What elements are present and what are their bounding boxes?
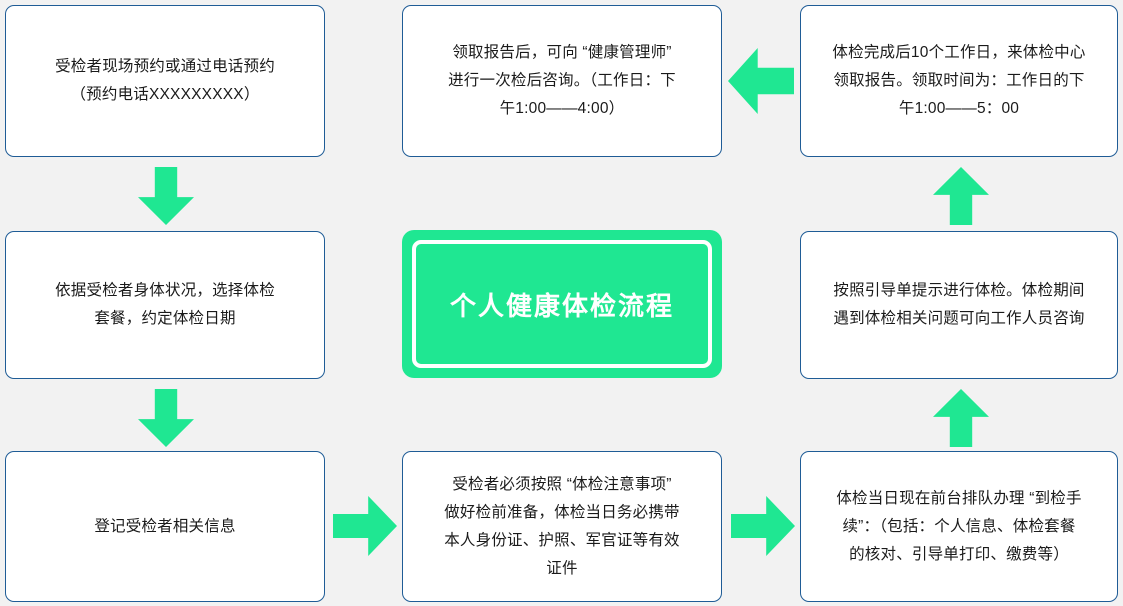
flowchart-title-inner-frame: 个人健康体检流程 bbox=[412, 240, 712, 368]
arrow-up-icon-right-col-2 bbox=[933, 389, 989, 447]
arrow-right-icon-bottom-1 bbox=[333, 496, 397, 556]
flow-box-bottom-right-text: 体检当日现在前台排队办理 “到检手 续”：（包括：个人信息、体检套餐 的核对、引… bbox=[836, 485, 1081, 569]
arrow-down-icon-left-col-1 bbox=[138, 167, 194, 225]
flow-box-top-middle[interactable]: 领取报告后，可向 “健康管理师” 进行一次检后咨询。（工作日：下 午1:00——… bbox=[402, 5, 722, 157]
flow-box-middle-right-text: 按照引导单提示进行体检。体检期间 遇到体检相关问题可向工作人员咨询 bbox=[833, 277, 1084, 333]
arrow-down-icon-left-col-2 bbox=[138, 389, 194, 447]
flow-box-top-right-text: 体检完成后10个工作日，来体检中心 领取报告。领取时间为：工作日的下 午1:00… bbox=[832, 39, 1085, 123]
flow-box-top-right[interactable]: 体检完成后10个工作日，来体检中心 领取报告。领取时间为：工作日的下 午1:00… bbox=[800, 5, 1118, 157]
flow-box-top-middle-text: 领取报告后，可向 “健康管理师” 进行一次检后咨询。（工作日：下 午1:00——… bbox=[448, 39, 676, 123]
flowchart-canvas: 受检者现场预约或通过电话预约 （预约电话XXXXXXXXX） 领取报告后，可向 … bbox=[0, 0, 1123, 606]
flow-box-bottom-middle[interactable]: 受检者必须按照 “体检注意事项” 做好检前准备，体检当日务必携带 本人身份证、护… bbox=[402, 451, 722, 602]
flow-box-bottom-left[interactable]: 登记受检者相关信息 bbox=[5, 451, 325, 602]
flowchart-title-box: 个人健康体检流程 bbox=[402, 230, 722, 378]
flow-box-top-left[interactable]: 受检者现场预约或通过电话预约 （预约电话XXXXXXXXX） bbox=[5, 5, 325, 157]
arrow-up-icon-right-col-1 bbox=[933, 167, 989, 225]
flow-box-bottom-right[interactable]: 体检当日现在前台排队办理 “到检手 续”：（包括：个人信息、体检套餐 的核对、引… bbox=[800, 451, 1118, 602]
flow-box-bottom-left-text: 登记受检者相关信息 bbox=[94, 513, 235, 541]
page-title: 个人健康体检流程 bbox=[450, 286, 674, 323]
flow-box-middle-right[interactable]: 按照引导单提示进行体检。体检期间 遇到体检相关问题可向工作人员咨询 bbox=[800, 231, 1118, 379]
flow-box-middle-left-text: 依据受检者身体状况，选择体检 套餐，约定体检日期 bbox=[55, 277, 275, 333]
arrow-left-icon-top-row bbox=[728, 48, 794, 114]
arrow-right-icon-bottom-2 bbox=[731, 496, 795, 556]
flow-box-top-left-text: 受检者现场预约或通过电话预约 （预约电话XXXXXXXXX） bbox=[55, 53, 275, 109]
flow-box-middle-left[interactable]: 依据受检者身体状况，选择体检 套餐，约定体检日期 bbox=[5, 231, 325, 379]
flow-box-bottom-middle-text: 受检者必须按照 “体检注意事项” 做好检前准备，体检当日务必携带 本人身份证、护… bbox=[444, 471, 680, 583]
